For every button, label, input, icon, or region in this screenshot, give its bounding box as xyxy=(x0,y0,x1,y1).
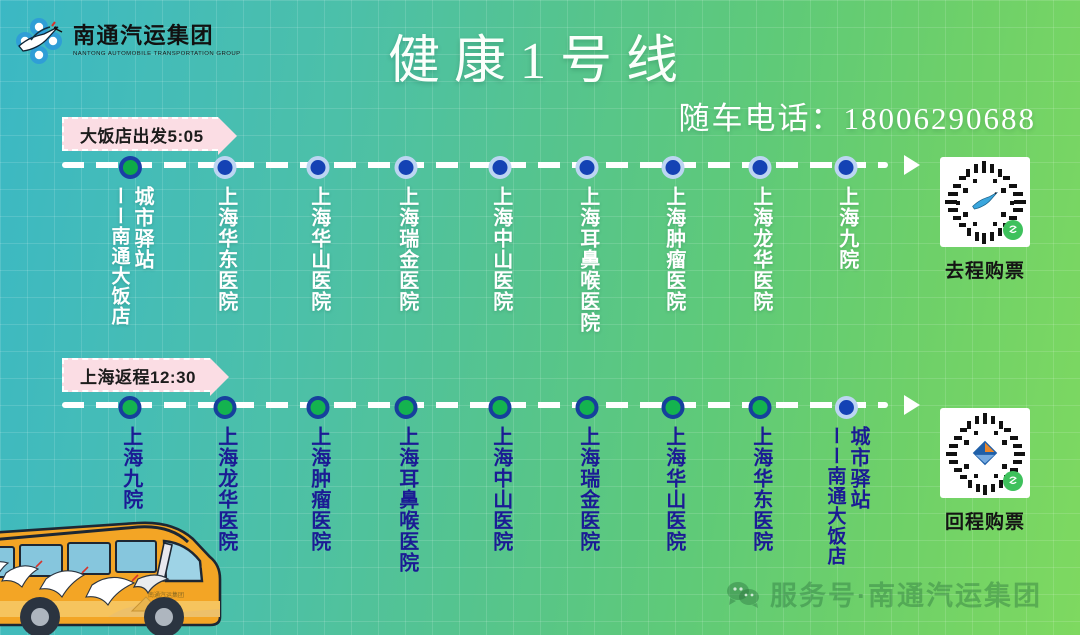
wechat-icon xyxy=(726,580,760,608)
station-stop[interactable]: 上海中山医院 xyxy=(489,396,512,552)
station-stop[interactable]: 上海肿瘤医院 xyxy=(662,156,685,312)
station-labels: 上海华山医院 xyxy=(307,186,330,312)
poster-root: 南通汽运集团 NANTONG AUTOMOBILE TRANSPORTATION… xyxy=(0,0,1080,635)
station-stop[interactable]: 上海耳鼻喉医院 xyxy=(395,396,418,573)
station-name: 城市驿站 xyxy=(846,426,868,566)
station-dot-icon xyxy=(214,156,237,179)
station-labels: 城市驿站ーー南通大饭店 xyxy=(108,186,152,326)
station-name: 上海九院 xyxy=(119,426,141,510)
station-labels: 上海中山医院 xyxy=(489,186,512,312)
station-name: 上海华东医院 xyxy=(749,426,771,552)
wechat-miniprogram-icon xyxy=(1003,471,1023,491)
wechat-miniprogram-icon xyxy=(1003,220,1023,240)
station-labels: 上海耳鼻喉医院 xyxy=(395,426,418,573)
badge-arrow-tip xyxy=(218,117,237,155)
station-stop[interactable]: 上海华东医院 xyxy=(214,156,237,312)
station-stop[interactable]: 上海瑞金医院 xyxy=(576,396,599,552)
onboard-phone: 随车电话：18006290688 xyxy=(679,93,1037,138)
qr-center-logo-icon xyxy=(968,436,1002,470)
station-name: 上海九院 xyxy=(835,186,857,270)
bus-illustration: 南通汽运集团 xyxy=(0,505,234,635)
station-dot-icon xyxy=(749,156,772,179)
arrow-right-icon xyxy=(904,395,920,415)
station-stop[interactable]: 上海中山医院 xyxy=(489,156,512,312)
station-name: 上海华山医院 xyxy=(662,426,684,552)
station-dot-icon xyxy=(119,396,142,419)
outbound-time-badge: 大饭店出发5:05 xyxy=(62,117,218,151)
station-labels: 上海肿瘤医院 xyxy=(307,426,330,552)
station-labels: 上海肿瘤医院 xyxy=(662,186,685,312)
return-time-text: 上海返程12:30 xyxy=(80,363,196,388)
station-name: 上海肿瘤医院 xyxy=(307,426,329,552)
watermark-text: 服务号·南通汽运集团 xyxy=(770,574,1042,613)
station-stop[interactable]: 城市驿站ーー南通大饭店 xyxy=(108,156,152,326)
station-name: 上海瑞金医院 xyxy=(395,186,417,312)
station-subname: ーー南通大饭店 xyxy=(108,186,129,326)
page-title: 健康1号线 xyxy=(0,18,1080,93)
station-stop[interactable]: 上海耳鼻喉医院 xyxy=(576,156,599,333)
return-qr-code[interactable] xyxy=(940,408,1030,498)
station-dot-icon xyxy=(489,156,512,179)
station-stop[interactable]: 上海华山医院 xyxy=(307,156,330,312)
station-dot-icon xyxy=(118,156,141,179)
station-stop[interactable]: 上海华东医院 xyxy=(749,396,772,552)
station-name: 上海华东医院 xyxy=(214,186,236,312)
station-dot-icon xyxy=(576,396,599,419)
station-name: 城市驿站 xyxy=(130,186,152,326)
station-dot-icon xyxy=(834,396,857,419)
watermark: 服务号·南通汽运集团 xyxy=(726,574,1042,613)
station-dot-icon xyxy=(395,396,418,419)
station-stop[interactable]: 上海九院 xyxy=(835,156,858,270)
outbound-qr-label: 去程购票 xyxy=(940,256,1030,283)
station-subname: ーー南通大饭店 xyxy=(824,426,845,566)
station-stop[interactable]: 上海肿瘤医院 xyxy=(307,396,330,552)
station-name: 上海瑞金医院 xyxy=(576,426,598,552)
station-dot-icon xyxy=(662,156,685,179)
station-stop[interactable]: 城市驿站ーー南通大饭店 xyxy=(824,396,868,566)
station-labels: 上海瑞金医院 xyxy=(395,186,418,312)
station-dot-icon xyxy=(307,156,330,179)
station-labels: 上海华山医院 xyxy=(662,426,685,552)
badge-arrow-tip xyxy=(210,358,229,396)
return-qr-block[interactable]: 回程购票 xyxy=(940,408,1030,534)
station-labels: 上海九院 xyxy=(835,186,858,270)
station-stop[interactable]: 上海瑞金医院 xyxy=(395,156,418,312)
station-stop[interactable]: 上海九院 xyxy=(119,396,142,510)
station-labels: 上海龙华医院 xyxy=(749,186,772,312)
station-name: 上海龙华医院 xyxy=(749,186,771,312)
station-labels: 上海瑞金医院 xyxy=(576,426,599,552)
station-name: 上海中山医院 xyxy=(489,186,511,312)
station-labels: 上海中山医院 xyxy=(489,426,512,552)
station-dot-icon xyxy=(662,396,685,419)
station-name: 上海耳鼻喉医院 xyxy=(395,426,417,573)
outbound-time-text: 大饭店出发5:05 xyxy=(80,122,204,147)
return-time-badge: 上海返程12:30 xyxy=(62,358,210,392)
arrow-right-icon xyxy=(904,155,920,175)
station-name: 上海耳鼻喉医院 xyxy=(576,186,598,333)
station-name: 上海华山医院 xyxy=(307,186,329,312)
station-labels: 上海九院 xyxy=(119,426,142,510)
station-stop[interactable]: 上海龙华医院 xyxy=(749,156,772,312)
station-name: 上海中山医院 xyxy=(489,426,511,552)
station-labels: 城市驿站ーー南通大饭店 xyxy=(824,426,868,566)
station-dot-icon xyxy=(749,396,772,419)
station-dot-icon xyxy=(307,396,330,419)
station-name: 上海肿瘤医院 xyxy=(662,186,684,312)
station-labels: 上海耳鼻喉医院 xyxy=(576,186,599,333)
station-stop[interactable]: 上海华山医院 xyxy=(662,396,685,552)
svg-text:南通汽运集团: 南通汽运集团 xyxy=(148,591,184,599)
station-labels: 上海华东医院 xyxy=(214,186,237,312)
station-dot-icon xyxy=(576,156,599,179)
qr-center-logo-icon xyxy=(968,185,1002,219)
return-qr-label: 回程购票 xyxy=(940,507,1030,534)
station-dot-icon xyxy=(489,396,512,419)
station-dot-icon xyxy=(835,156,858,179)
outbound-qr-code[interactable] xyxy=(940,157,1030,247)
station-labels: 上海华东医院 xyxy=(749,426,772,552)
station-dot-icon xyxy=(214,396,237,419)
station-dot-icon xyxy=(395,156,418,179)
outbound-qr-block[interactable]: 去程购票 xyxy=(940,157,1030,283)
